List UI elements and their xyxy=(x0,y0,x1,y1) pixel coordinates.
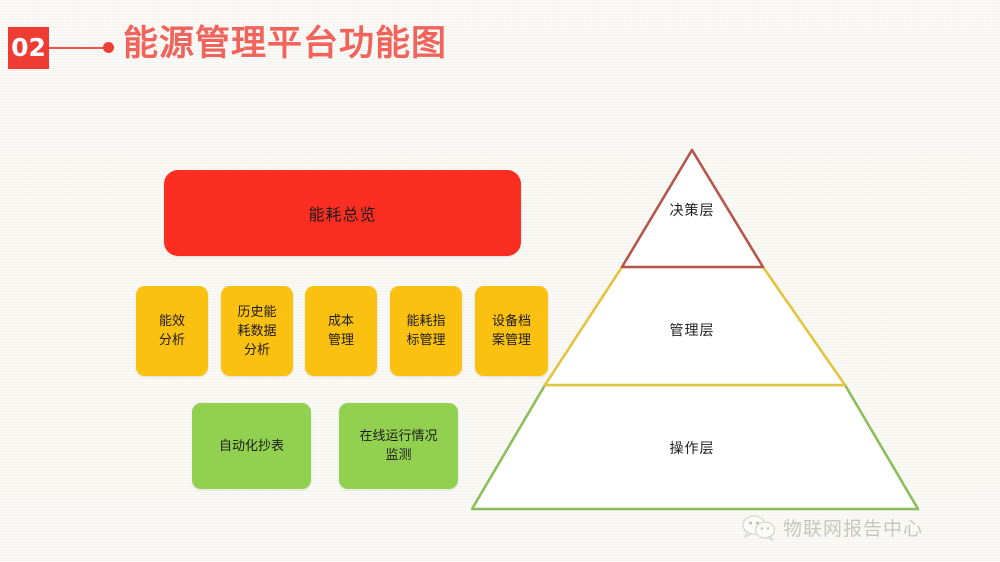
pyramid-label-decision: 决策层 xyxy=(670,200,715,220)
function-box-energy-indicator-management[interactable]: 能耗指标管理 xyxy=(390,286,462,376)
pyramid-label-operate: 操作层 xyxy=(670,438,715,458)
function-box-automatic-meter-reading[interactable]: 自动化抄表 xyxy=(192,403,311,489)
badge-connector-dot xyxy=(103,42,114,53)
page-title: 能源管理平台功能图 xyxy=(123,21,447,67)
pyramid-label-manage: 管理层 xyxy=(670,320,715,340)
section-number-badge: 02 xyxy=(8,27,49,69)
hierarchy-pyramid: 决策层 管理层 操作层 xyxy=(455,135,935,530)
watermark-text: 物联网报告中心 xyxy=(783,514,923,541)
watermark: 物联网报告中心 xyxy=(742,514,923,541)
function-box-historical-energy-data-analysis[interactable]: 历史能耗数据分析 xyxy=(221,286,293,376)
function-box-online-operation-monitoring[interactable]: 在线运行情况监测 xyxy=(339,403,458,489)
slide-canvas: 02 能源管理平台功能图 能耗总览 能效分析 历史能耗数据分析 成本管理 能耗指… xyxy=(0,0,1000,562)
wechat-icon xyxy=(742,515,776,541)
function-box-energy-efficiency-analysis[interactable]: 能效分析 xyxy=(136,286,208,376)
badge-connector-line xyxy=(49,47,107,49)
function-box-cost-management[interactable]: 成本管理 xyxy=(305,286,377,376)
